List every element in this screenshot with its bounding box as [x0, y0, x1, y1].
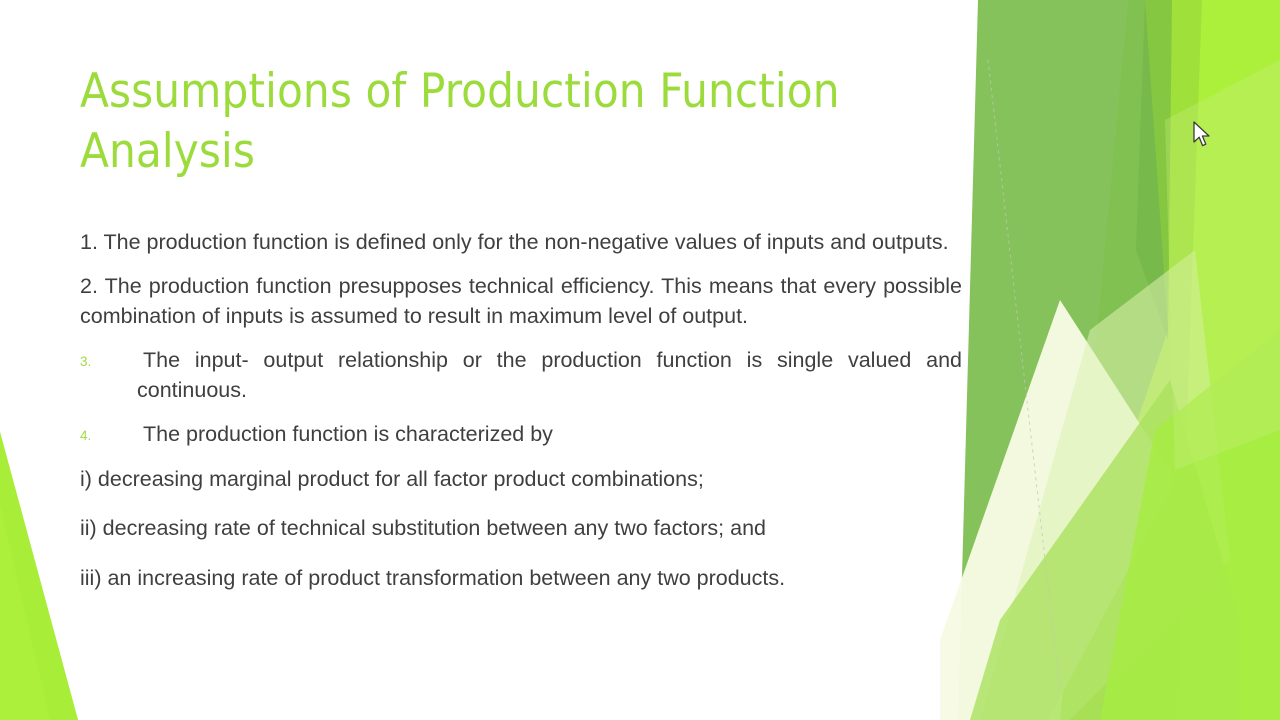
list-item-3-text: The input- output relationship or the pr…: [137, 346, 962, 406]
angled-green-polygons-icon: [940, 0, 1280, 720]
page-title: Assumptions of Production Function Analy…: [80, 62, 910, 181]
list-marker-4: 4.: [80, 420, 137, 443]
slide-body: 1. The production function is defined on…: [80, 228, 962, 614]
sub-item-i: i) decreasing marginal product for all f…: [80, 465, 962, 495]
list-item-1: 1. The production function is defined on…: [80, 228, 962, 258]
sub-item-ii: ii) decreasing rate of technical substit…: [80, 514, 962, 544]
list-item-2: 2. The production function presupposes t…: [80, 272, 962, 332]
list-item-3: 3. The input- output relationship or the…: [80, 346, 962, 406]
list-marker-3: 3.: [80, 346, 137, 369]
presentation-slide: Assumptions of Production Function Analy…: [0, 0, 1280, 720]
list-item-4: 4. The production function is characteri…: [80, 420, 962, 450]
list-item-4-text: The production function is characterized…: [137, 420, 962, 450]
sub-item-iii: iii) an increasing rate of product trans…: [80, 564, 962, 594]
mouse-pointer-icon: [1192, 121, 1212, 149]
